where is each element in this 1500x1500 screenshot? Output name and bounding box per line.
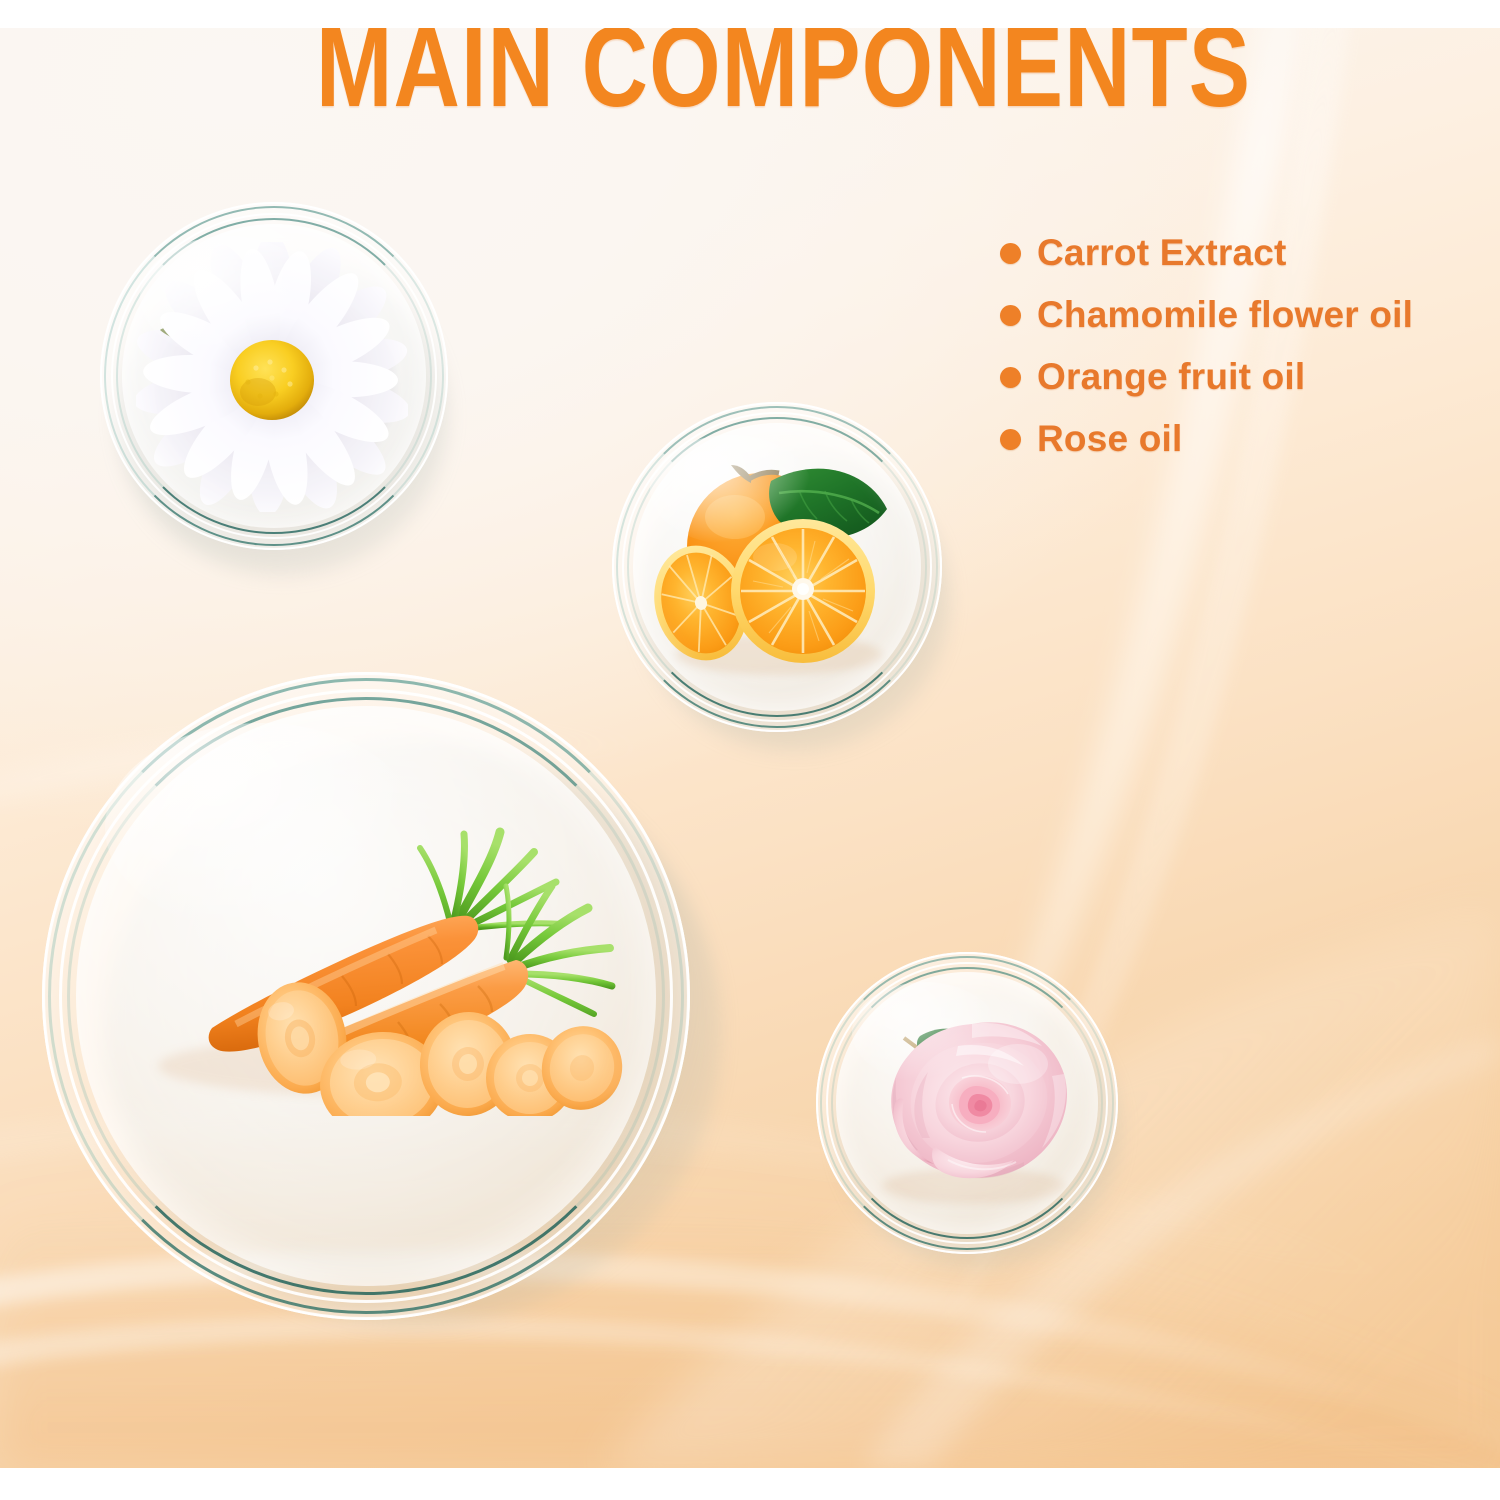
page-title: MAIN COMPONENTS — [248, 22, 1318, 112]
orange-dish-well — [633, 423, 921, 711]
carrot-specimen-layer — [76, 706, 656, 1286]
chamomile-specimen-layer — [122, 224, 426, 528]
list-item-label: Chamomile flower oil — [1037, 294, 1413, 336]
list-item: Rose oil — [1000, 408, 1480, 470]
rose-specimen-layer — [836, 972, 1098, 1234]
top-white-band — [0, 0, 1500, 28]
rose-dish-well — [836, 972, 1098, 1234]
bottom-white-band — [0, 1468, 1500, 1500]
list-item-label: Carrot Extract — [1037, 232, 1287, 274]
ingredients-list: Carrot Extract Chamomile flower oil Oran… — [1000, 222, 1480, 470]
bullet-dot-icon — [1000, 367, 1021, 388]
chamomile-dish — [100, 202, 448, 550]
bullet-dot-icon — [1000, 305, 1021, 326]
carrot-graphic — [96, 816, 644, 1116]
carrot-dish-well — [76, 706, 656, 1286]
list-item-label: Rose oil — [1037, 418, 1183, 460]
orange-dish — [612, 402, 942, 732]
list-item: Orange fruit oil — [1000, 346, 1480, 408]
list-item-label: Orange fruit oil — [1037, 356, 1305, 398]
bullet-dot-icon — [1000, 429, 1021, 450]
rose-dish — [816, 952, 1118, 1254]
orange-fruit-graphic — [639, 443, 915, 691]
list-item: Chamomile flower oil — [1000, 284, 1480, 346]
chamomile-dish-well — [122, 224, 426, 528]
rose-flower-graphic — [848, 994, 1092, 1210]
orange-specimen-layer — [633, 423, 921, 711]
list-item: Carrot Extract — [1000, 222, 1480, 284]
bullet-dot-icon — [1000, 243, 1021, 264]
poster-canvas: MAIN COMPONENTS Carrot Extract Chamomile… — [0, 0, 1500, 1500]
carrot-dish — [42, 672, 690, 1320]
daisy-flower-graphic — [136, 242, 408, 512]
